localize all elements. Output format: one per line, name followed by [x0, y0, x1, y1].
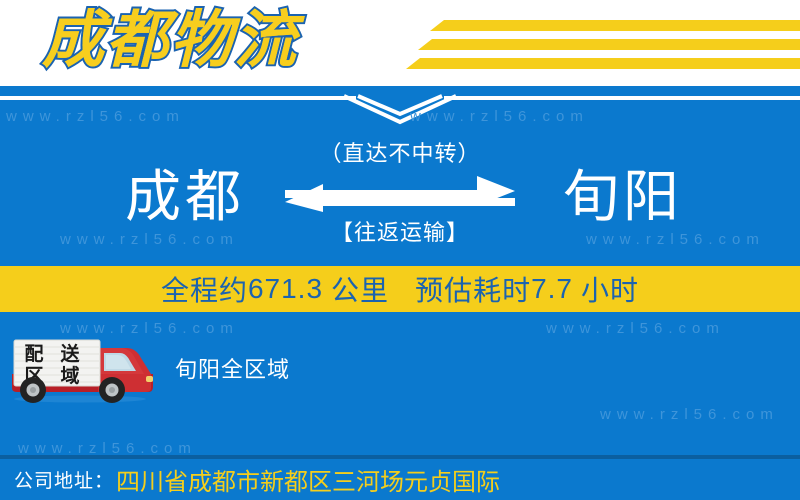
metrics-band: 全程约671.3公里 预估耗时7.7小时 [0, 266, 800, 312]
poster-header: 成都物流 成都物流 [0, 0, 800, 86]
distance-unit: 公里 [331, 269, 389, 309]
company-address: 公司地址： 四川省成都市新都区三河场元贞国际 [14, 459, 500, 500]
poster-body: www.rzl56.com www.rzl56.com www.rzl56.co… [0, 86, 800, 455]
distance-value: 671.3 [248, 273, 323, 305]
metrics-text: 全程约671.3公里 预估耗时7.7小时 [0, 266, 800, 312]
truck-box-char-2: 送 [60, 342, 80, 365]
address-value: 四川省成都市新都区三河场元贞国际 [116, 462, 500, 497]
watermark: www.rzl56.com [6, 108, 185, 125]
watermark: www.rzl56.com [60, 231, 239, 248]
watermark: www.rzl56.com [410, 108, 589, 125]
delivery-coverage-label: 旬阳全区域 [175, 352, 290, 384]
duration-value: 7.7 [531, 273, 573, 305]
header-stripe-2 [418, 39, 800, 50]
poster-footer: 公司地址： 四川省成都市新都区三河场元贞国际 [0, 459, 800, 500]
watermark: www.rzl56.com [586, 231, 765, 248]
round-trip-note: 【往返运输】 [250, 218, 550, 248]
watermark: www.rzl56.com [600, 406, 779, 423]
duration-label: 预估耗时 [415, 269, 531, 309]
top-rule-right [444, 96, 800, 100]
truck-box-char-4: 域 [60, 364, 79, 387]
duration-unit: 小时 [581, 269, 639, 309]
watermark: www.rzl56.com [546, 320, 725, 337]
direct-service-note: （直达不中转） [250, 139, 550, 169]
logistics-route-poster: 成都物流 成都物流 www.rzl56.com www.rzl56.com ww… [0, 0, 800, 500]
address-label: 公司地址： [14, 466, 114, 493]
header-stripe-1 [430, 20, 800, 31]
two-way-arrow-icon [285, 174, 515, 216]
brand-title: 成都物流 [42, 0, 298, 84]
header-stripe-3 [406, 58, 800, 69]
watermark: www.rzl56.com [18, 440, 197, 455]
truck-box-char-1: 配 [24, 343, 43, 365]
delivery-truck-icon: 配 送 区 域 [8, 332, 156, 404]
top-rule-left [0, 96, 356, 100]
distance-label: 全程约 [161, 269, 248, 309]
